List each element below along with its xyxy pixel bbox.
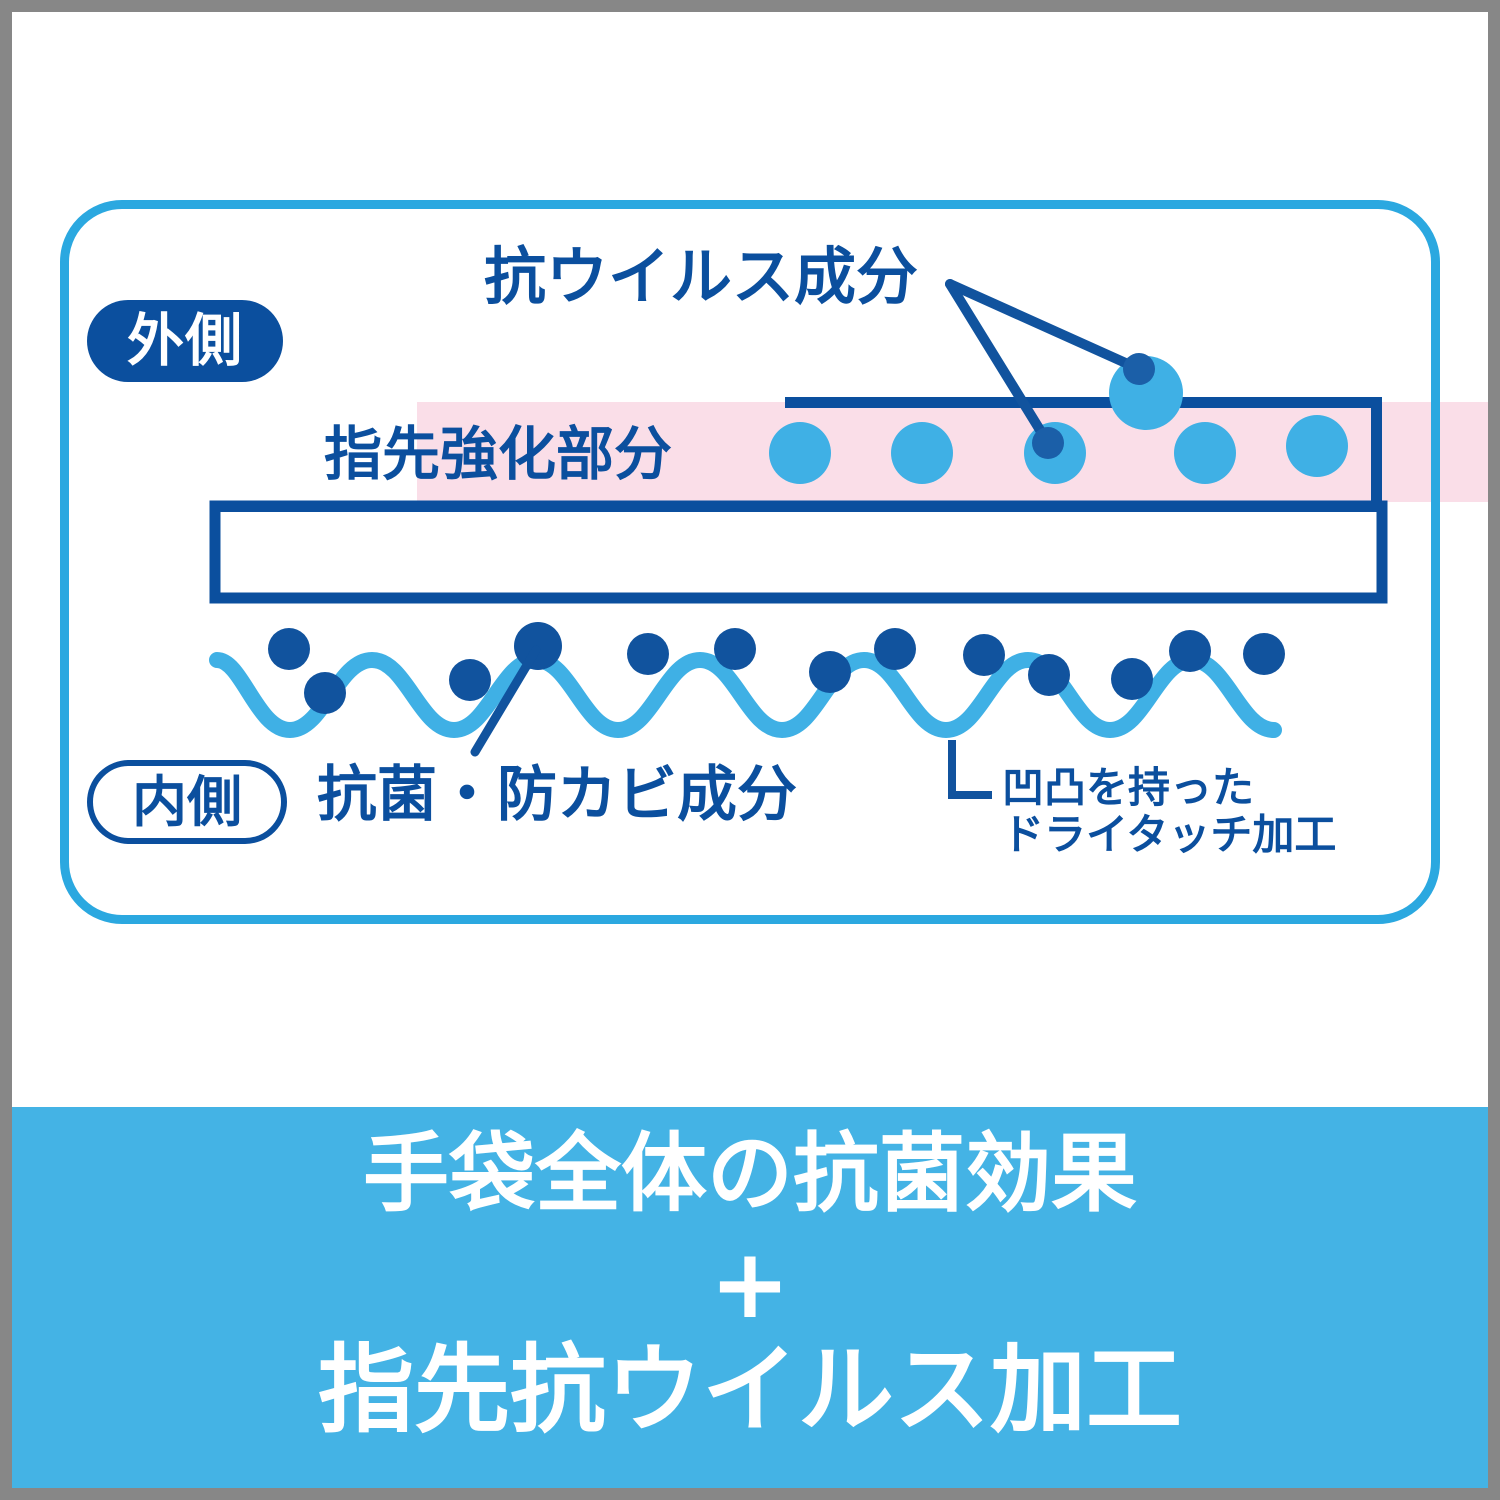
badge-inner-side: 内側 [87,760,287,844]
label-fingertip-reinforcement: 指先強化部分 [324,424,672,485]
page-canvas: 外側 内側 抗ウイルス成分 指先強化部分 抗菌・防カビ成分 凹凸を持った ドライ… [12,12,1488,1488]
banner-antibacterial-text: 手袋全体の抗菌効果 [363,1129,1137,1220]
label-antibacterial-antimold: 抗菌・防カビ成分 [317,764,797,827]
summary-banner: 手袋全体の抗菌効果 + 指先抗ウイルス加工 [12,1107,1488,1488]
banner-plus-symbol: + [710,1236,790,1332]
label-dry-touch: 凹凸を持った ドライタッチ加工 [1002,764,1432,858]
badge-outer-side: 外側 [87,300,283,382]
banner-antiviral-text: 指先抗ウイルス加工 [318,1340,1182,1442]
label-dry-touch-line1: 凹凸を持った [1002,764,1432,811]
label-antiviral-agent: 抗ウイルス成分 [484,244,918,309]
badge-inner-label: 内側 [132,775,242,830]
label-dry-touch-line2: ドライタッチ加工 [1002,811,1432,858]
screenshot-root: 外側 内側 抗ウイルス成分 指先強化部分 抗菌・防カビ成分 凹凸を持った ドライ… [0,0,1500,1500]
badge-outer-label: 外側 [127,313,243,370]
